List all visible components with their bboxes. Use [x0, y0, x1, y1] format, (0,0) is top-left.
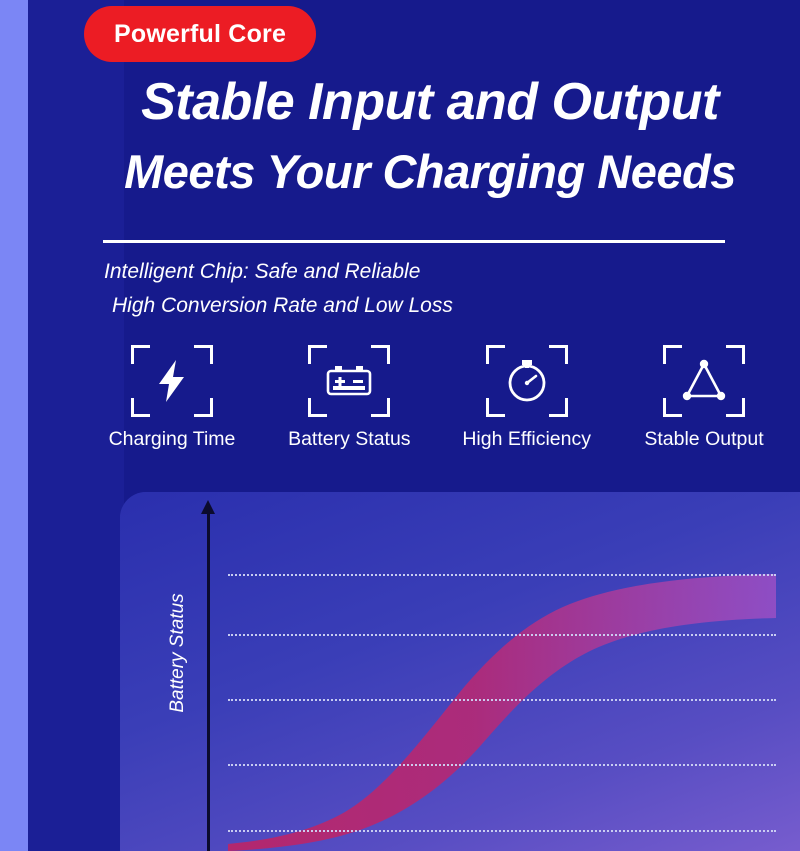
battery-status-chart: Battery Status: [120, 492, 800, 851]
icon-frame-stable-output: [663, 345, 745, 417]
powerful-core-badge: Powerful Core: [84, 6, 316, 62]
gridline: [228, 764, 776, 766]
feature-label: High Efficiency: [462, 428, 591, 451]
feature-label: Stable Output: [644, 428, 763, 451]
icon-frame-high-efficiency: [486, 345, 568, 417]
feature-row: Charging Time: [88, 345, 788, 475]
subtitle-line-1: Intelligent Chip: Safe and Reliable: [104, 260, 420, 284]
feature-label: Battery Status: [288, 428, 410, 451]
feature-label: Charging Time: [109, 428, 236, 451]
gridline: [228, 574, 776, 576]
page-root: Powerful Core Stable Input and Output Me…: [0, 0, 800, 851]
stopwatch-icon: [500, 354, 554, 408]
battery-icon: [322, 354, 376, 408]
headline-line-1: Stable Input and Output: [60, 76, 800, 128]
headline: Stable Input and Output Meets Your Charg…: [60, 76, 800, 195]
gridline: [228, 830, 776, 832]
feature-battery-status: Battery Status: [265, 345, 433, 475]
feature-charging-time: Charging Time: [88, 345, 256, 475]
chart-plot-area: Battery Status: [120, 492, 800, 851]
headline-line-2: Meets Your Charging Needs: [60, 148, 800, 195]
y-axis-line: [207, 508, 210, 851]
triangle-network-icon: [677, 354, 731, 408]
icon-frame-charging-time: [131, 345, 213, 417]
feature-high-efficiency: High Efficiency: [443, 345, 611, 475]
gridline: [228, 634, 776, 636]
divider: [103, 240, 725, 243]
main-panel: Powerful Core Stable Input and Output Me…: [28, 0, 800, 851]
icon-frame-battery-status: [308, 345, 390, 417]
chart-curve-band: [120, 492, 800, 851]
feature-stable-output: Stable Output: [620, 345, 788, 475]
lightning-bolt-icon: [145, 354, 199, 408]
y-axis-label: Battery Status: [167, 573, 189, 733]
subtitle-line-2: High Conversion Rate and Low Loss: [112, 294, 453, 318]
gridline: [228, 699, 776, 701]
